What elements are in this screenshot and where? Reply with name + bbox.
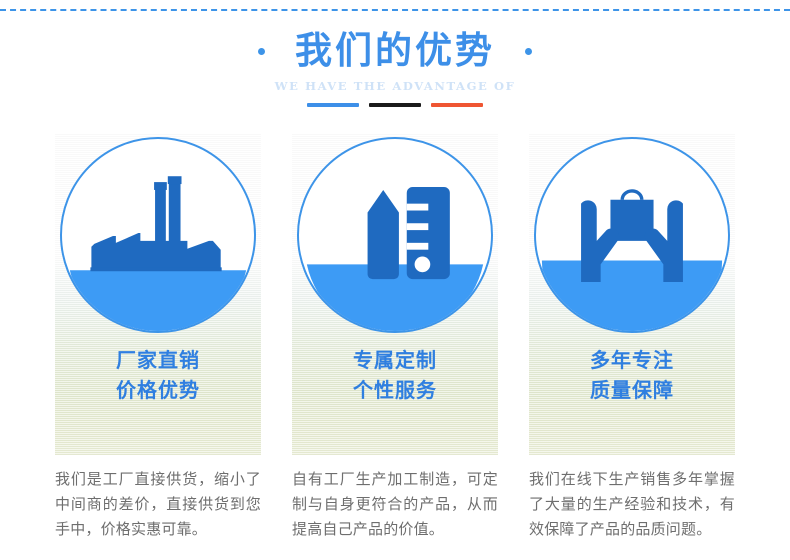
icon-circle: [297, 137, 493, 333]
card-panel: 专属定制 个性服务: [292, 133, 498, 455]
card-description: 我们在线下生产销售多年掌握了大量的生产经验和技术，有效保障了产品的品质问题。: [529, 467, 735, 542]
title-row: 我们的优势: [0, 26, 790, 76]
advantage-columns: 厂家直销 价格优势 我们是工厂直接供货，缩小了中间商的差价，直接供货到您手中，价…: [55, 133, 735, 542]
section-header: 我们的优势 WE HAVE THE ADVANTAGE OF: [0, 26, 790, 107]
icon-circle: [534, 137, 730, 333]
card-heading: 专属定制 个性服务: [292, 345, 498, 405]
hands-holding-bag-icon: [536, 139, 728, 331]
advantage-card-3: 多年专注 质量保障 我们在线下生产销售多年掌握了大量的生产经验和技术，有效保障了…: [529, 133, 735, 542]
card-heading: 多年专注 质量保障: [529, 345, 735, 405]
card-heading: 厂家直销 价格优势: [55, 345, 261, 405]
top-dashed-divider: [0, 9, 790, 11]
card-description: 我们是工厂直接供货，缩小了中间商的差价，直接供货到您手中，价格实惠可靠。: [55, 467, 261, 542]
decorative-dot-right: [525, 48, 532, 55]
card-heading-line1: 厂家直销: [116, 348, 200, 372]
factory-icon: [62, 139, 254, 331]
card-heading-line2: 个性服务: [292, 375, 498, 405]
card-panel: 厂家直销 价格优势: [55, 133, 261, 455]
icon-circle: [60, 137, 256, 333]
advantage-card-2: 专属定制 个性服务 自有工厂生产加工制造，可定制与自身更符合的产品，从而提高自己…: [292, 133, 498, 542]
divider-bars: [0, 103, 790, 107]
card-heading-line2: 质量保障: [529, 375, 735, 405]
divider-bar-blue: [307, 103, 359, 107]
card-heading-line1: 多年专注: [590, 348, 674, 372]
card-heading-line1: 专属定制: [353, 348, 437, 372]
card-panel: 多年专注 质量保障: [529, 133, 735, 455]
advantage-card-1: 厂家直销 价格优势 我们是工厂直接供货，缩小了中间商的差价，直接供货到您手中，价…: [55, 133, 261, 542]
divider-bar-black: [369, 103, 421, 107]
divider-bar-orange: [431, 103, 483, 107]
card-description: 自有工厂生产加工制造，可定制与自身更符合的产品，从而提高自己产品的价值。: [292, 467, 498, 542]
page-title: 我们的优势: [295, 28, 495, 74]
pencil-ruler-icon: [299, 139, 491, 331]
decorative-dot-left: [258, 48, 265, 55]
advantages-section: 我们的优势 WE HAVE THE ADVANTAGE OF: [0, 0, 790, 560]
section-subtitle: WE HAVE THE ADVANTAGE OF: [0, 79, 790, 93]
card-heading-line2: 价格优势: [55, 375, 261, 405]
